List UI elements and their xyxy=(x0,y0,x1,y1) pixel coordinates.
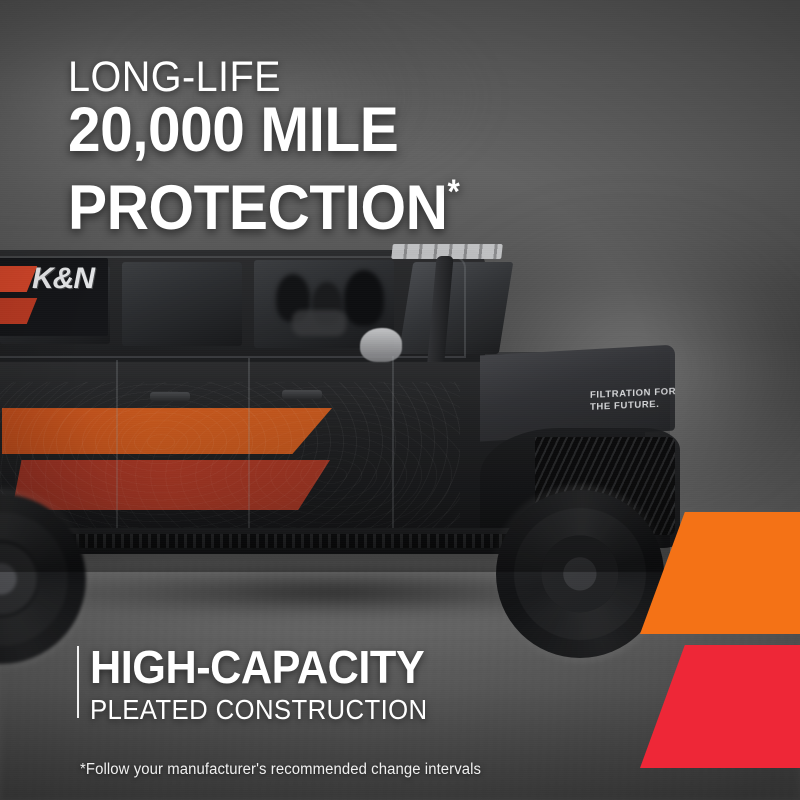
wheel-hub xyxy=(541,535,618,612)
subhead-vertical-rule xyxy=(77,646,79,718)
headline-block: LONG-LIFE 20,000 MILE PROTECTION* xyxy=(68,54,688,239)
vehicle-illustration xyxy=(0,232,770,652)
headline-line-1: 20,000 MILE xyxy=(68,100,645,161)
headline-line-2: PROTECTION* xyxy=(68,162,645,239)
promo-banner: K&N FILTRATION FOR THE FUTURE. LONG-LIFE… xyxy=(0,0,800,800)
footnote-disclaimer: *Follow your manufacturer's recommended … xyxy=(80,760,481,779)
vehicle-livery-orange xyxy=(2,408,332,454)
front-wheel xyxy=(496,490,664,658)
side-mirror xyxy=(360,328,402,362)
headline-asterisk: * xyxy=(447,173,459,211)
driver-arm xyxy=(292,310,346,336)
door-seam xyxy=(248,358,250,528)
door-handle xyxy=(150,392,190,401)
kn-logo-text: K&N xyxy=(32,262,94,295)
door-handle xyxy=(282,390,322,399)
headline-eyebrow: LONG-LIFE xyxy=(68,54,638,100)
subhead-block: HIGH-CAPACITY PLEATED CONSTRUCTION xyxy=(68,642,710,726)
door-seam xyxy=(116,360,118,528)
vehicle-livery-red xyxy=(12,460,330,510)
headline-line-2-text: PROTECTION xyxy=(68,173,447,243)
subhead-title: HIGH-CAPACITY xyxy=(90,642,673,692)
subhead-subtitle: PLEATED CONSTRUCTION xyxy=(90,694,660,726)
driver-silhouette xyxy=(344,270,384,326)
kn-logo: K&N xyxy=(0,258,108,336)
door-seam xyxy=(392,356,394,528)
vehicle-tagline: FILTRATION FOR THE FUTURE. xyxy=(590,386,676,413)
kn-logo-bar-lower xyxy=(0,298,37,324)
